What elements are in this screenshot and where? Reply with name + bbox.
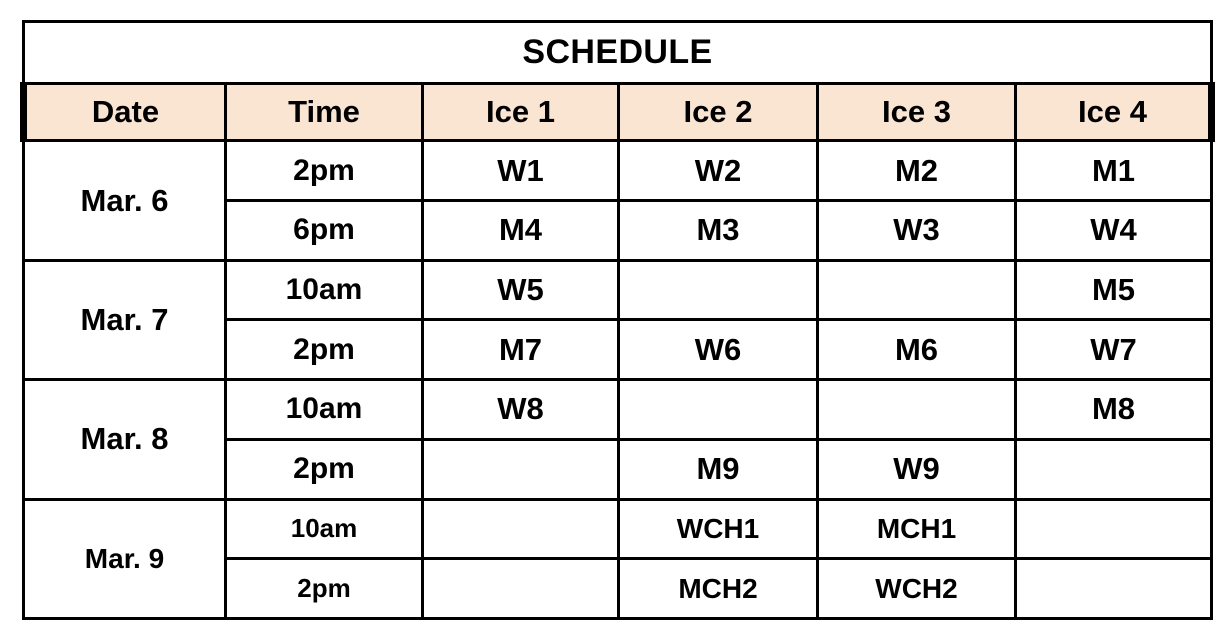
time-cell: 6pm: [226, 201, 423, 261]
table-row: Mar. 9 10am WCH1 MCH1: [24, 499, 1212, 559]
slot-cell-ice-2: M9: [619, 439, 818, 499]
table-row: Mar. 6 2pm W1 W2 M2 M1: [24, 141, 1212, 201]
schedule-table: SCHEDULE Date Time Ice 1 Ice 2 Ice 3 Ice…: [20, 20, 1215, 620]
time-cell: 10am: [226, 380, 423, 440]
slot-cell-ice-3: M6: [818, 320, 1016, 380]
time-cell: 10am: [226, 499, 423, 559]
title-row: SCHEDULE: [24, 22, 1212, 84]
column-header-ice-1: Ice 1: [423, 83, 619, 141]
time-cell: 2pm: [226, 141, 423, 201]
slot-cell-ice-1: [423, 439, 619, 499]
slot-cell-ice-4: [1016, 499, 1212, 559]
column-header-time: Time: [226, 83, 423, 141]
slot-cell-ice-1: W8: [423, 380, 619, 440]
slot-cell-ice-1: [423, 499, 619, 559]
column-header-date: Date: [24, 83, 226, 141]
slot-cell-ice-2: [619, 380, 818, 440]
date-cell: Mar. 7: [24, 260, 226, 379]
time-cell: 10am: [226, 260, 423, 320]
slot-cell-ice-3: MCH1: [818, 499, 1016, 559]
date-cell: Mar. 8: [24, 380, 226, 499]
column-header-ice-3: Ice 3: [818, 83, 1016, 141]
slot-cell-ice-2: [619, 260, 818, 320]
slot-cell-ice-2: MCH2: [619, 559, 818, 619]
slot-cell-ice-3: [818, 260, 1016, 320]
slot-cell-ice-3: W9: [818, 439, 1016, 499]
slot-cell-ice-3: [818, 380, 1016, 440]
column-header-ice-2: Ice 2: [619, 83, 818, 141]
slot-cell-ice-2: W2: [619, 141, 818, 201]
slot-cell-ice-3: M2: [818, 141, 1016, 201]
page-title: SCHEDULE: [24, 22, 1212, 84]
slot-cell-ice-4: W4: [1016, 201, 1212, 261]
date-cell: Mar. 6: [24, 141, 226, 260]
slot-cell-ice-4: [1016, 439, 1212, 499]
slot-cell-ice-1: W5: [423, 260, 619, 320]
time-cell: 2pm: [226, 320, 423, 380]
table-row: Mar. 8 10am W8 M8: [24, 380, 1212, 440]
time-cell: 2pm: [226, 439, 423, 499]
schedule-table-container: SCHEDULE Date Time Ice 1 Ice 2 Ice 3 Ice…: [20, 20, 1208, 620]
column-header-row: Date Time Ice 1 Ice 2 Ice 3 Ice 4: [24, 83, 1212, 141]
slot-cell-ice-4: M5: [1016, 260, 1212, 320]
slot-cell-ice-4: M8: [1016, 380, 1212, 440]
slot-cell-ice-1: [423, 559, 619, 619]
column-header-ice-4: Ice 4: [1016, 83, 1212, 141]
slot-cell-ice-2: WCH1: [619, 499, 818, 559]
date-cell: Mar. 9: [24, 499, 226, 618]
slot-cell-ice-2: M3: [619, 201, 818, 261]
slot-cell-ice-3: WCH2: [818, 559, 1016, 619]
slot-cell-ice-3: W3: [818, 201, 1016, 261]
slot-cell-ice-1: M7: [423, 320, 619, 380]
table-row: Mar. 7 10am W5 M5: [24, 260, 1212, 320]
slot-cell-ice-1: W1: [423, 141, 619, 201]
time-cell: 2pm: [226, 559, 423, 619]
slot-cell-ice-1: M4: [423, 201, 619, 261]
slot-cell-ice-4: [1016, 559, 1212, 619]
slot-cell-ice-2: W6: [619, 320, 818, 380]
slot-cell-ice-4: W7: [1016, 320, 1212, 380]
slot-cell-ice-4: M1: [1016, 141, 1212, 201]
